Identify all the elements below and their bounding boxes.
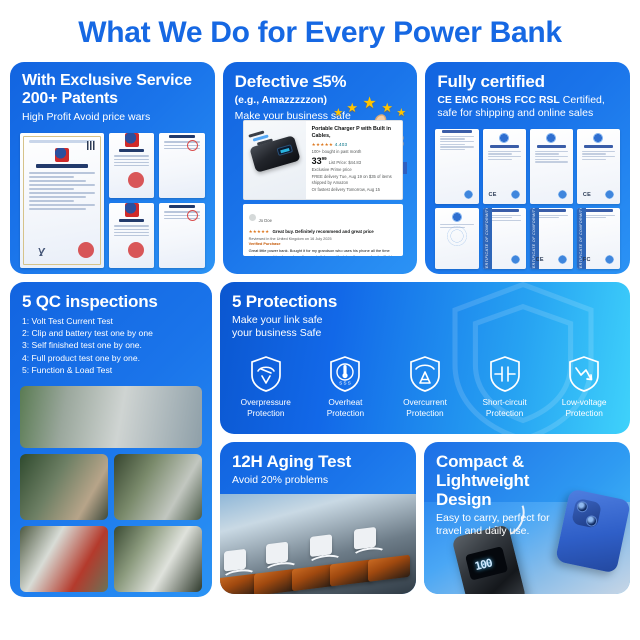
review-header: Jo Doe xyxy=(249,209,397,227)
qc-photo-gallery xyxy=(10,386,212,597)
card-defective-heading: Defective ≤5% xyxy=(235,72,406,91)
right-column: 5 Protections Make your link safe your b… xyxy=(220,282,630,597)
protection-label-line2: Protection xyxy=(465,408,545,419)
card-defective-rate[interactable]: Defective ≤5% (e.g., Amazzzzzon) Make yo… xyxy=(223,62,418,274)
card-patents-text: With Exclusive Service 200+ Patents High… xyxy=(10,62,215,133)
card-certified-heading: Fully certified xyxy=(437,72,618,91)
shield-circuit-icon xyxy=(488,355,522,393)
review-verified-badge: Verified Purchase xyxy=(249,242,397,246)
patent-certificate-thumb xyxy=(159,203,204,268)
protection-label-line2: Protection xyxy=(226,408,306,419)
qc-step-item: 5: Function & Load Test xyxy=(22,364,200,376)
product-price: 3399List Price: $44.83 xyxy=(312,156,397,166)
customer-review-card: Jo Doe ★★★★★ Great buy. Definitely recom… xyxy=(243,204,403,256)
aging-rack-graphic xyxy=(220,509,416,594)
card-compact-subtitle-2: travel and daily use. xyxy=(436,525,618,538)
product-prime-label: Exclusive Prime price xyxy=(312,167,397,172)
card-qc-text: 5 QC inspections 1: Volt Test Current Te… xyxy=(10,282,212,386)
product-delivery-1: FREE delivery Tue, Aug 19 on $35 of item… xyxy=(312,174,397,185)
protection-label-line1: Short-circuit xyxy=(465,397,545,408)
protection-label-line1: Overheat xyxy=(306,397,386,408)
qc-photo xyxy=(20,526,108,592)
qc-step-item: 2: Clip and battery test one by one xyxy=(22,327,200,339)
card-certified[interactable]: Fully certified CE EMC ROHS FCC RSL Cert… xyxy=(425,62,630,274)
protection-label-line1: Overcurrent xyxy=(385,397,465,408)
certificate-side-label: CERTIFICATE OF CONFORMITY xyxy=(483,208,492,269)
patent-certificate-gallery xyxy=(10,133,215,274)
card-patents-heading-line1: With Exclusive Service xyxy=(22,72,203,90)
row-top: With Exclusive Service 200+ Patents High… xyxy=(0,62,640,282)
qc-photo xyxy=(20,386,202,448)
certificate-gallery: CE CE CERTIFICATE OF CONFORMITY CERTIFIC… xyxy=(425,129,630,274)
aging-test-photo xyxy=(220,494,416,594)
row-middle: 5 QC inspections 1: Volt Test Current Te… xyxy=(0,282,640,605)
certificate-thumb: CERTIFICATE OF CONFORMITY xyxy=(483,208,526,269)
certificate-thumb xyxy=(435,129,478,204)
card-compact-text: Compact & Lightweight Design Easy to car… xyxy=(424,442,630,547)
card-certified-text: Fully certified CE EMC ROHS FCC RSL Cert… xyxy=(425,62,630,129)
shield-thermometer-icon: S S S xyxy=(328,355,362,393)
certificate-thumb: CE xyxy=(577,129,620,204)
shield-lowvolt-icon xyxy=(567,355,601,393)
battery-percentage: 100 xyxy=(473,556,493,573)
product-rating-value: 4.403 xyxy=(335,142,348,147)
card-protections[interactable]: 5 Protections Make your link safe your b… xyxy=(220,282,630,434)
card-compact-heading-line2: Design xyxy=(436,490,618,509)
infographic-page: What We Do for Every Power Bank With Exc… xyxy=(0,0,640,640)
certificate-thumb xyxy=(530,129,573,204)
shield-current-icon xyxy=(408,355,442,393)
patent-certificate-main xyxy=(20,133,104,268)
product-title[interactable]: Portable Charger P with Built in Cables, xyxy=(312,126,397,140)
certificate-thumb xyxy=(435,208,478,269)
patent-certificate-thumb xyxy=(159,133,204,198)
product-image xyxy=(244,121,306,199)
battery-display: 100 xyxy=(465,546,508,580)
product-info: Portable Charger P with Built in Cables,… xyxy=(306,121,402,199)
product-rating: ★★★★★ 4.403 xyxy=(312,142,397,148)
certified-standards: CE EMC ROHS FCC RSL xyxy=(437,94,560,106)
card-aging-subtitle: Avoid 20% problems xyxy=(232,474,404,487)
protection-label-line2: Protection xyxy=(385,408,465,419)
protection-item-overcurrent: Overcurrent Protection xyxy=(385,355,465,419)
row-bottom: 12H Aging Test Avoid 20% problems 100 xyxy=(220,442,630,594)
svg-text:S S S: S S S xyxy=(340,381,352,386)
reviewer-name: Jo Doe xyxy=(259,218,272,223)
card-compact-heading-line1: Compact & Lightweight xyxy=(436,452,618,490)
certificate-thumb: CERTIFICATE OF CONFORMITYFC xyxy=(577,208,620,269)
card-compact-design[interactable]: 100 Compact & Lightweight Design Easy to… xyxy=(424,442,630,594)
protection-icon-list: Overpressure Protection S S S Overheat P… xyxy=(220,355,630,419)
qc-step-list: 1: Volt Test Current Test 2: Clip and ba… xyxy=(22,315,200,376)
card-qc-inspections[interactable]: 5 QC inspections 1: Volt Test Current Te… xyxy=(10,282,212,597)
card-patents-subtitle: High Profit Avoid price wars xyxy=(22,111,203,124)
protection-item-overheat: S S S Overheat Protection xyxy=(306,355,386,419)
card-aging-heading: 12H Aging Test xyxy=(232,452,404,471)
card-qc-heading: 5 QC inspections xyxy=(22,292,200,311)
card-aging-test[interactable]: 12H Aging Test Avoid 20% problems xyxy=(220,442,416,594)
protection-label-line2: Protection xyxy=(306,408,386,419)
qc-photo xyxy=(20,454,108,520)
review-title: Great buy. Definitely recommend and grea… xyxy=(273,229,374,234)
qc-step-item: 1: Volt Test Current Test xyxy=(22,315,200,327)
protection-label-line1: Overpressure xyxy=(226,397,306,408)
qc-step-item: 3: Self finished test one by one. xyxy=(22,339,200,351)
card-patents[interactable]: With Exclusive Service 200+ Patents High… xyxy=(10,62,215,274)
protection-label-line1: Low-voltage xyxy=(544,397,624,408)
protection-item-overpressure: Overpressure Protection xyxy=(226,355,306,419)
card-certified-subtitle: CE EMC ROHS FCC RSL Certified, safe for … xyxy=(437,94,618,119)
protection-item-short-circuit: Short-circuit Protection xyxy=(465,355,545,419)
patent-certificate-thumb xyxy=(109,133,154,198)
protection-label-line2: Protection xyxy=(544,408,624,419)
certificate-thumb: CERTIFICATE OF CONFORMITYCE xyxy=(530,208,573,269)
amazon-listing-card[interactable]: Portable Charger P with Built in Cables,… xyxy=(243,120,403,200)
product-bought-count: 100+ bought in past month xyxy=(312,149,397,154)
page-title: What We Do for Every Power Bank xyxy=(0,0,640,62)
card-patents-heading-line2: 200+ Patents xyxy=(22,90,203,108)
qc-photo xyxy=(114,454,202,520)
card-aging-text: 12H Aging Test Avoid 20% problems xyxy=(220,442,416,497)
avatar xyxy=(249,214,256,221)
card-compact-subtitle-1: Easy to carry, perfect for xyxy=(436,512,618,525)
product-delivery-2: Or fastest delivery Tomorrow, Aug 15 xyxy=(312,187,397,193)
review-stars: ★★★★★ Great buy. Definitely recommend an… xyxy=(249,229,397,235)
qc-photo xyxy=(114,526,202,592)
shield-gauge-icon xyxy=(249,355,283,393)
review-body: Great little power bank. Bought it for m… xyxy=(249,248,397,256)
certificate-thumb: CE xyxy=(483,129,526,204)
protection-item-low-voltage: Low-voltage Protection xyxy=(544,355,624,419)
patent-certificate-thumb xyxy=(109,203,154,268)
qc-step-item: 4: Full product test one by one. xyxy=(22,352,200,364)
patent-certificate-thumbnails xyxy=(109,133,205,268)
review-meta: Reviewed in the United Kingdom on 16 Jul… xyxy=(249,237,397,241)
